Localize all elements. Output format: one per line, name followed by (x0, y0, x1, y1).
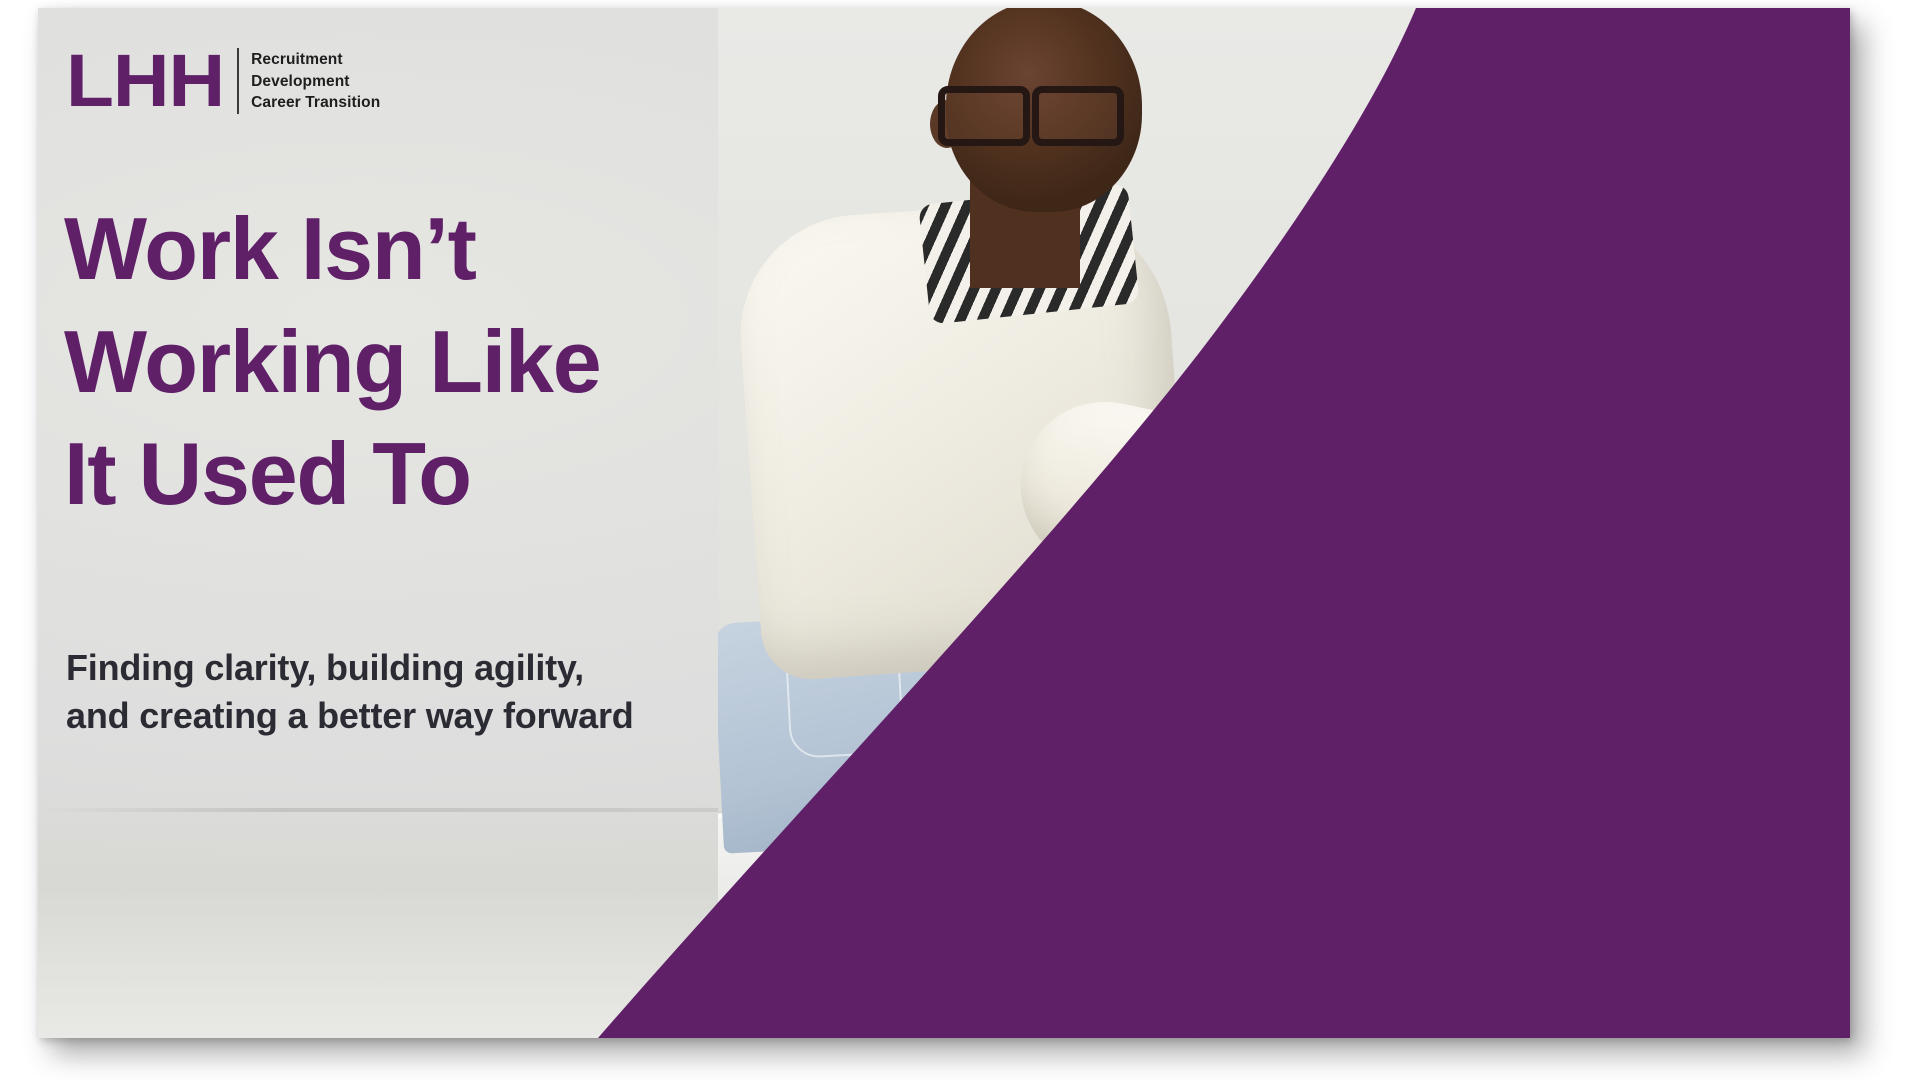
page-canvas: LHH Recruitment Development Career Trans… (0, 0, 1920, 1080)
presentation-slide: LHH Recruitment Development Career Trans… (38, 8, 1850, 1038)
woman-eyeglasses (936, 82, 1126, 136)
slide-headline: Work Isn’t Working Like It Used To (64, 193, 804, 531)
logo-tagline-line-2: Development (251, 71, 380, 92)
slide-subtitle: Finding clarity, building agility, and c… (66, 644, 826, 740)
headline-line-1: Work Isn’t (64, 193, 804, 306)
lhh-logo-wordmark: LHH (66, 48, 224, 115)
subtitle-line-1: Finding clarity, building agility, (66, 644, 826, 692)
headline-line-2: Working Like (64, 306, 804, 419)
logo-tagline-line-3: Career Transition (251, 92, 380, 113)
logo-tagline: Recruitment Development Career Transitio… (251, 49, 380, 113)
lhh-logo: LHH Recruitment Development Career Trans… (66, 48, 380, 115)
headline-line-3: It Used To (64, 418, 804, 531)
hero-photo (718, 8, 1850, 1038)
subtitle-line-2: and creating a better way forward (66, 692, 826, 740)
logo-tagline-line-1: Recruitment (251, 49, 380, 70)
logo-divider (237, 48, 239, 114)
